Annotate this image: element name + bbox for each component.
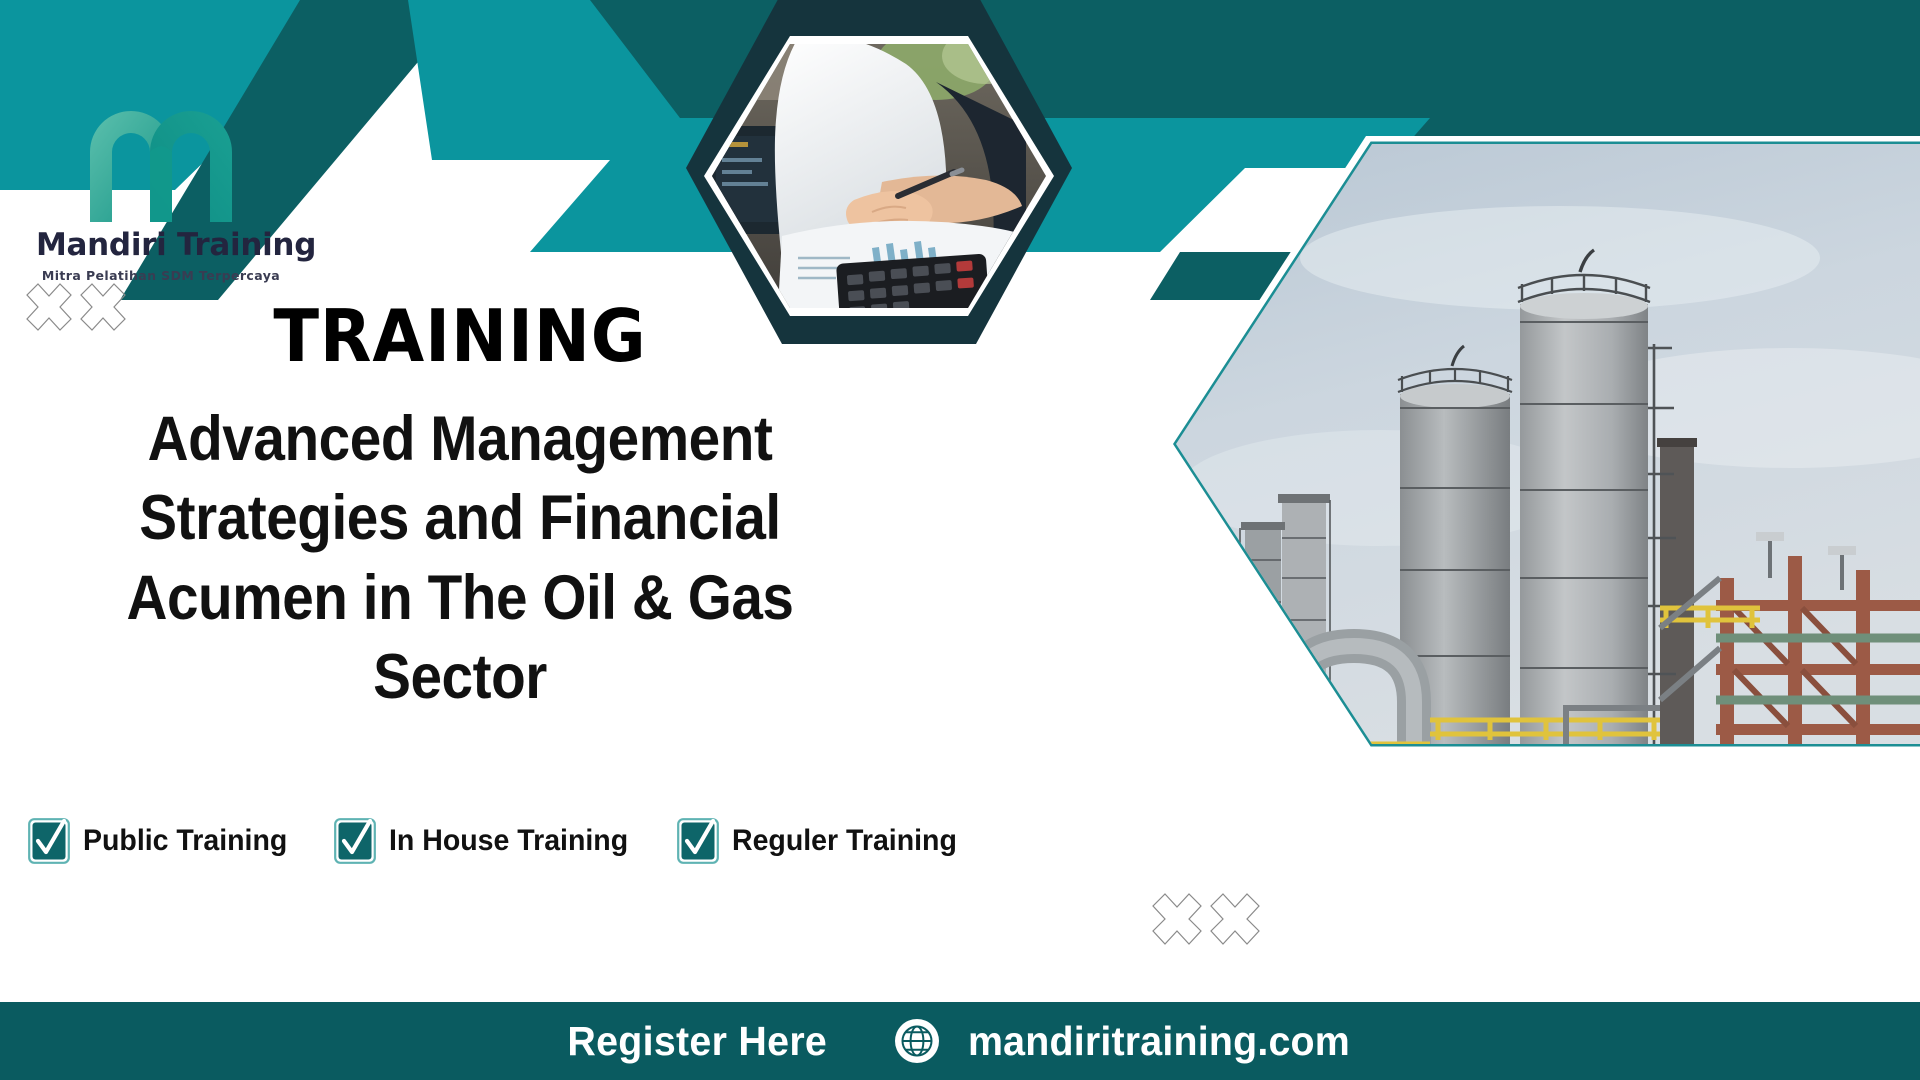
course-title-line: Acumen in The Oil & Gas [100,559,820,638]
footer-bar: Register Here mandiritraining.com [0,1002,1920,1080]
website-url: mandiritraining.com [968,1018,1350,1065]
headline-block: TRAINING Advanced Management Strategies … [60,300,860,718]
course-title: Advanced Management Strategies and Finan… [100,400,820,718]
training-type-label: Public Training [83,824,287,858]
checkbox-checked-icon[interactable] [334,818,376,864]
checkbox-checked-icon[interactable] [677,818,719,864]
checkbox-checked-icon[interactable] [28,818,70,864]
hexagon-photo-refinery [960,108,1920,780]
training-type-item-reguler[interactable]: Reguler Training [677,818,969,864]
course-title-line: Sector [100,638,820,717]
training-type-item-in-house[interactable]: In House Training [334,818,641,864]
training-type-item-public[interactable]: Public Training [28,818,298,864]
hexagon-photo-finance [686,0,1072,354]
course-title-line: Strategies and Financial [100,479,820,558]
register-here-label: Register Here [567,1018,827,1065]
training-type-label: In House Training [389,824,628,858]
course-title-line: Advanced Management [100,400,820,479]
training-poster: Mandiri Training Mitra Pelatihan SDM Ter… [0,0,1920,1080]
training-type-label: Reguler Training [732,824,957,858]
x-cross-outline-decoration-bottom [1148,888,1264,954]
brand-name: Mandiri Training [36,227,286,263]
globe-icon [894,1018,940,1064]
brand-logo: Mandiri Training Mitra Pelatihan SDM Ter… [36,100,286,283]
mandiri-m-loop-logo-icon [80,100,242,225]
training-type-list: Public Training In House Training Regule… [28,818,968,864]
